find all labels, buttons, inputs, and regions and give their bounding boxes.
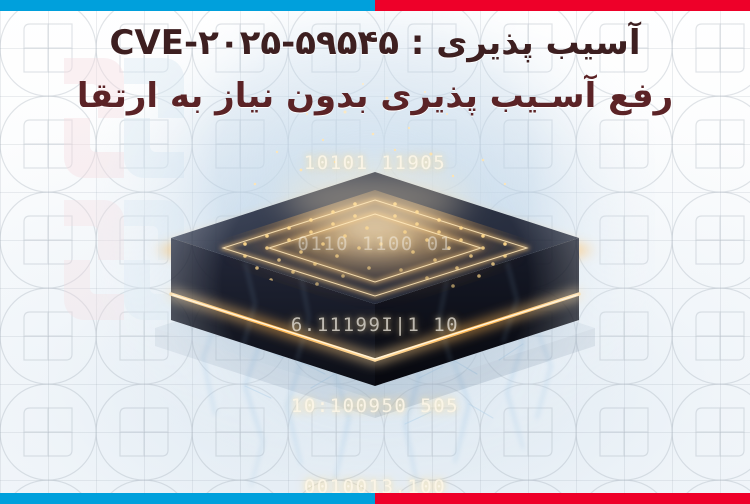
top-color-bar <box>0 0 750 11</box>
bottom-bar-red-segment <box>375 493 750 504</box>
top-bar-red-segment <box>375 0 750 11</box>
bottom-bar-blue-segment <box>0 493 375 504</box>
background-rounded-shape-pattern <box>0 0 750 504</box>
bottom-color-bar <box>0 493 750 504</box>
banner-canvas: 11905 10101 01 1100 0110 10 1|6.11199I 5… <box>0 0 750 504</box>
top-bar-blue-segment <box>0 0 375 11</box>
